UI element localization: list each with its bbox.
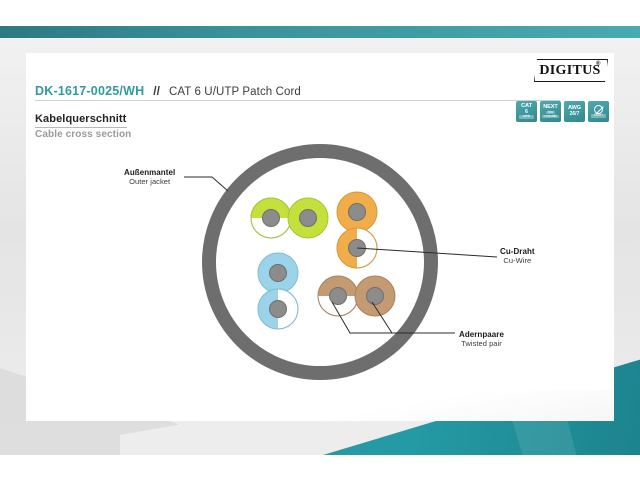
- annotation-outer-jacket-en: Outer jacket: [124, 177, 175, 186]
- annotation-outer-jacket: Außenmantel Outer jacket: [124, 168, 175, 186]
- annotation-cu-wire-de: Cu-Draht: [500, 247, 535, 256]
- green-pair-wire-solid: [288, 198, 328, 238]
- cable-cross-section-diagram: [0, 0, 640, 480]
- orange-pair-wire-solid: [337, 192, 377, 232]
- green-pair: [251, 198, 328, 238]
- green-pair-wire-striped: [251, 198, 291, 238]
- copper-core: [270, 301, 287, 318]
- copper-core: [270, 265, 287, 282]
- copper-core: [349, 204, 366, 221]
- orange-pair: [337, 192, 377, 268]
- leader-line-outer-jacket: [184, 177, 228, 191]
- annotation-twisted-pair-de: Adernpaare: [459, 330, 504, 339]
- annotation-outer-jacket-de: Außenmantel: [124, 168, 175, 177]
- outer-jacket-ring: [209, 151, 431, 373]
- brown-pair-wire-striped: [318, 276, 358, 316]
- blue-pair-wire-striped: [258, 289, 298, 329]
- annotation-twisted-pair: Adernpaare Twisted pair: [459, 330, 504, 348]
- copper-core: [300, 210, 317, 227]
- annotation-twisted-pair-en: Twisted pair: [459, 339, 504, 348]
- copper-core: [263, 210, 280, 227]
- copper-core: [330, 288, 347, 305]
- brown-pair-wire-solid: [355, 276, 395, 316]
- brown-pair: [318, 276, 395, 316]
- copper-core: [367, 288, 384, 305]
- annotation-cu-wire: Cu-Draht Cu-Wire: [500, 247, 535, 265]
- blue-pair: [258, 253, 298, 329]
- annotation-cu-wire-en: Cu-Wire: [500, 256, 535, 265]
- blue-pair-wire-solid: [258, 253, 298, 293]
